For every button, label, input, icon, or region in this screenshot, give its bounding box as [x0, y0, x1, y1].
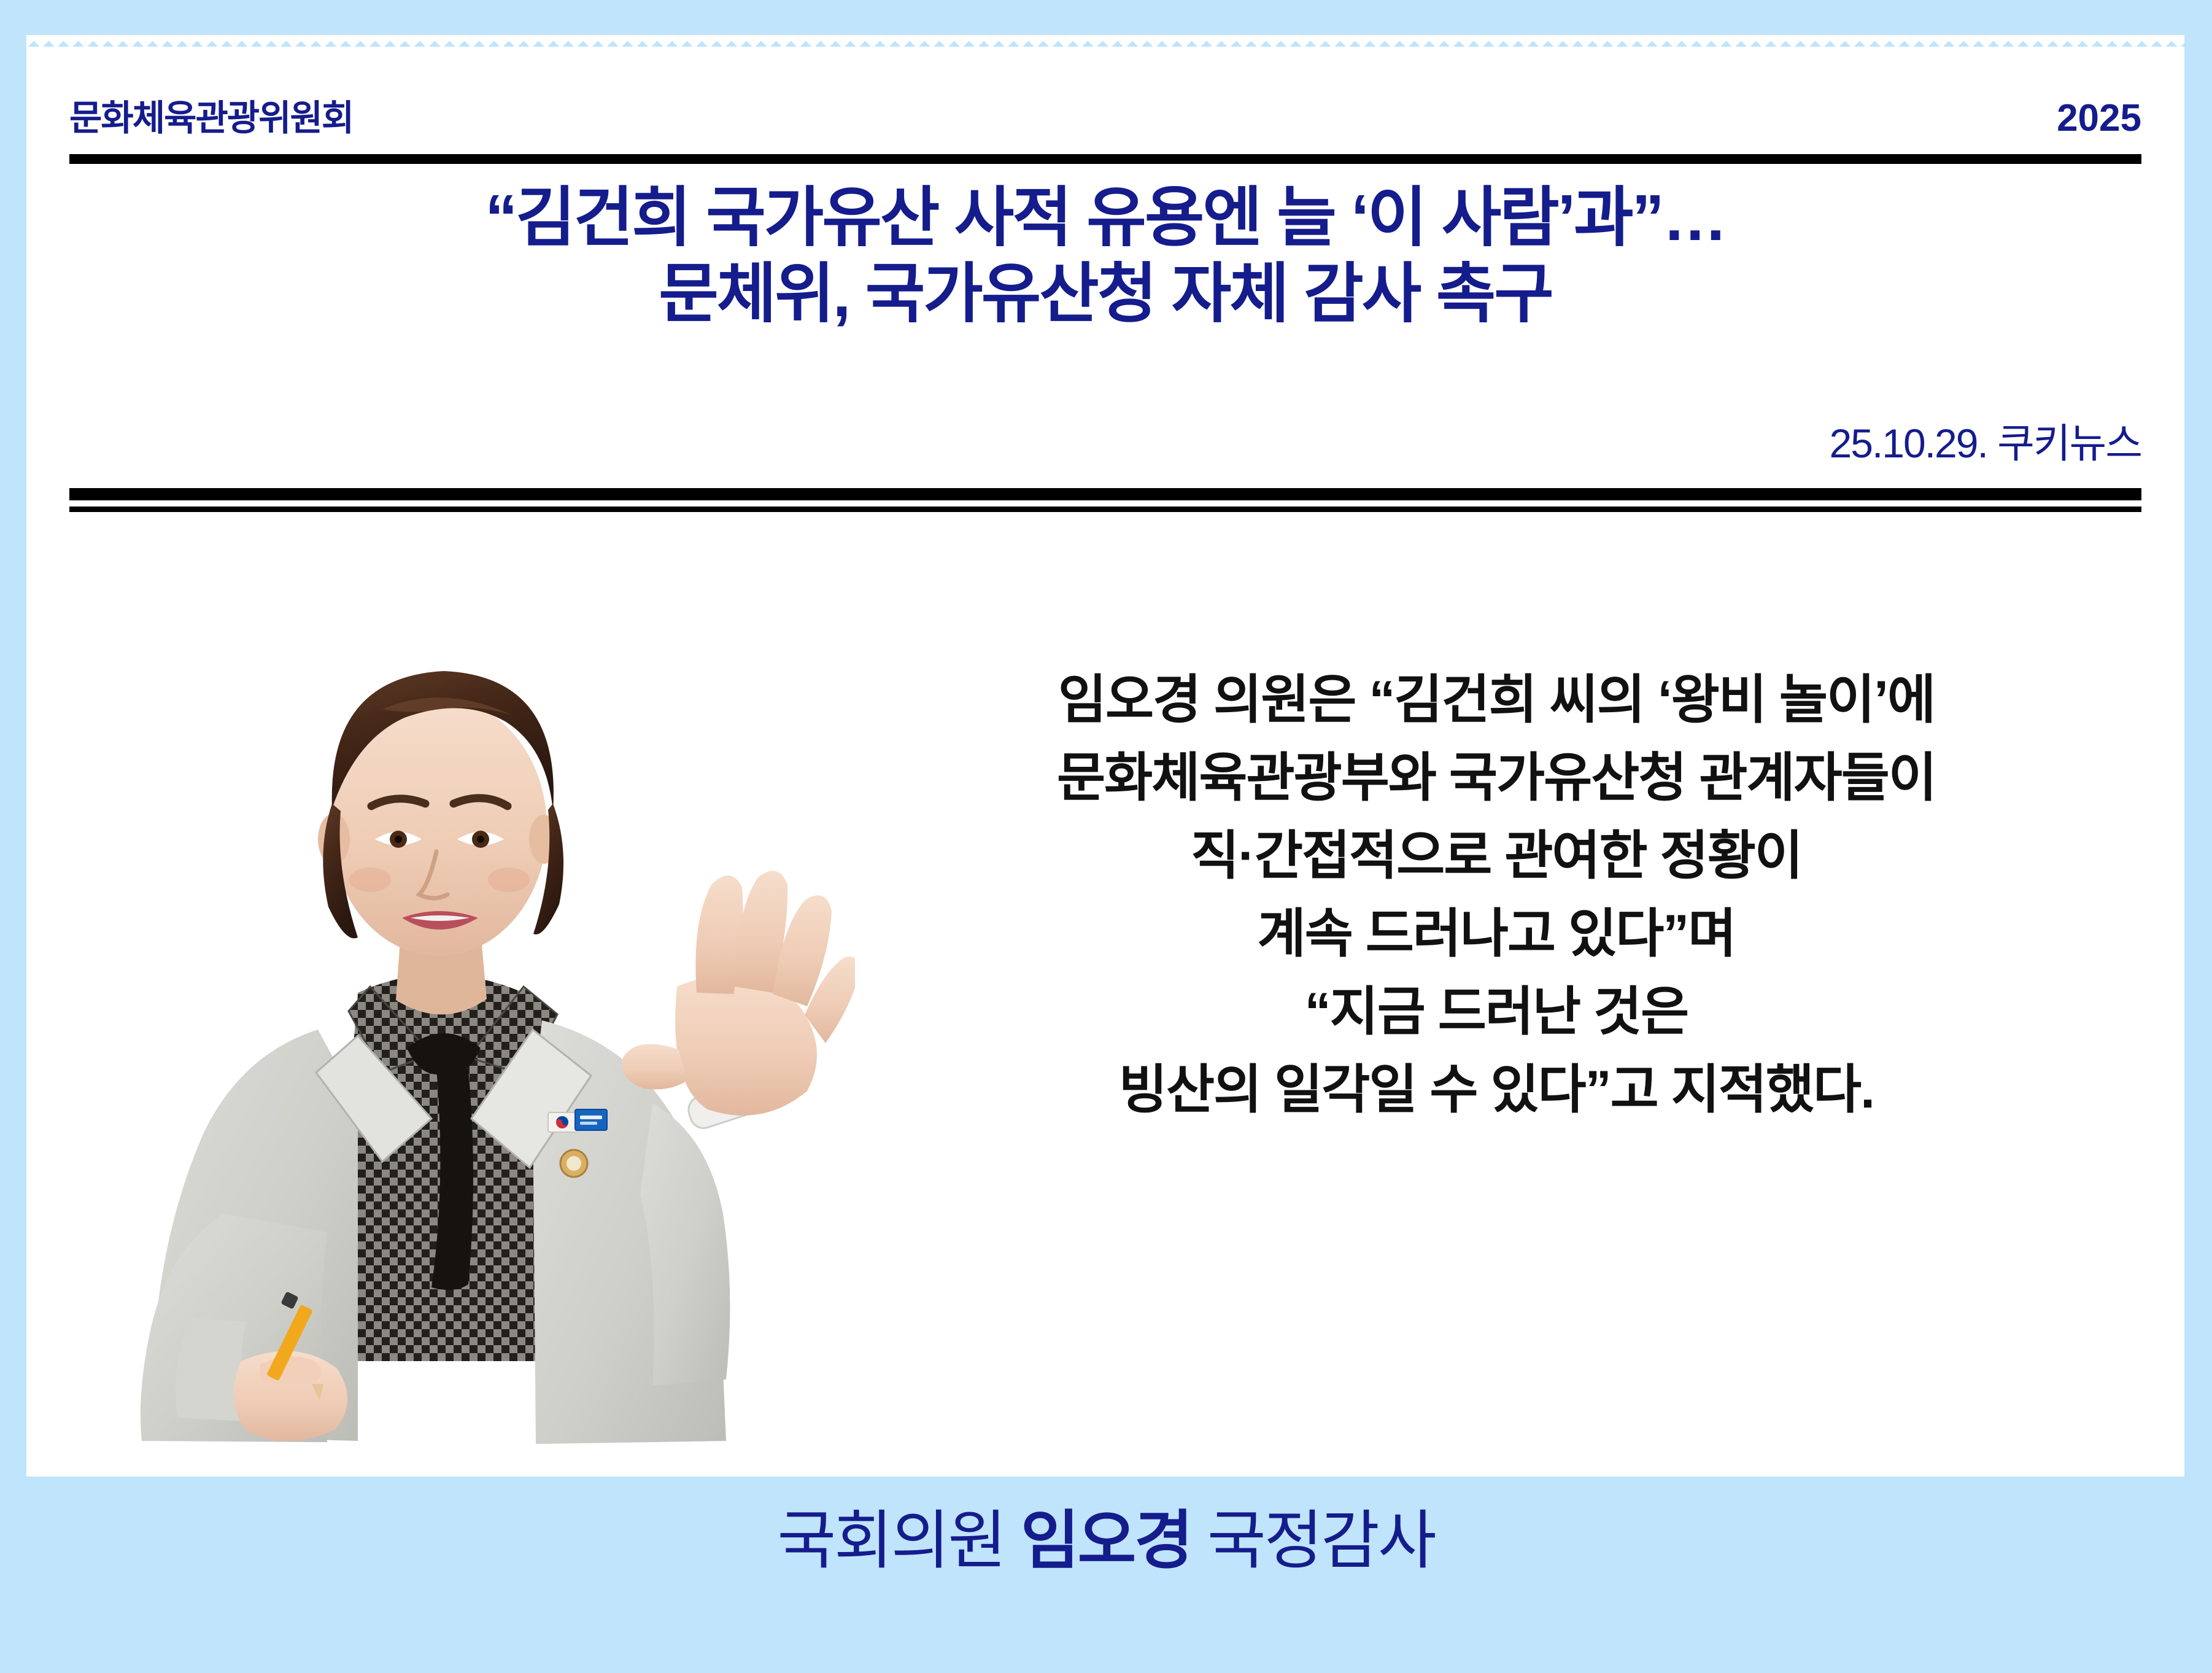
divider-middle-thick: [69, 488, 2141, 500]
news-card: 문화체육관광위원회 2025 “김건희 국가유산 사적 유용엔 늘 ‘이 사람’…: [26, 35, 2184, 1477]
footer-member-name: 임오경: [1021, 1505, 1191, 1577]
headline-line-1: “김건희 국가유산 사적 유용엔 늘 ‘이 사람’과”…: [69, 180, 2141, 256]
headline: “김건희 국가유산 사적 유용엔 늘 ‘이 사람’과”… 문체위, 국가유산청 …: [69, 180, 2141, 332]
quote-line-5: “지금 드러난 것은: [830, 973, 2162, 1051]
quote-line-1: 임오경 의원은 “김건희 씨의 ‘왕비 놀이’에: [830, 661, 2162, 739]
headline-line-2: 문체위, 국가유산청 자체 감사 촉구: [69, 256, 2141, 332]
divider-top: [69, 154, 2141, 164]
quote-line-2: 문화체육관광부와 국가유산청 관계자들이: [830, 739, 2162, 817]
sawtooth-edge-decoration: [26, 35, 2184, 47]
quote-line-3: 직·간접적으로 관여한 정황이: [830, 817, 2162, 895]
quote-line-4: 계속 드러나고 있다”며: [830, 895, 2162, 973]
blue-party-pin: [575, 1109, 607, 1130]
korean-flag-pin: [548, 1112, 576, 1132]
quote-line-6: 빙산의 일각일 수 있다”고 지적했다.: [830, 1051, 2162, 1129]
divider-middle-thin: [69, 507, 2141, 512]
quote-body: 임오경 의원은 “김건희 씨의 ‘왕비 놀이’에 문화체육관광부와 국가유산청 …: [830, 661, 2162, 1129]
portrait-photo: [39, 563, 855, 1478]
committee-name-label: 문화체육관광위원회: [69, 96, 353, 141]
card-header: 문화체육관광위원회 2025: [69, 96, 2141, 141]
footer-prefix: 국회의원: [777, 1505, 1021, 1577]
year-label: 2025: [2057, 96, 2141, 141]
source-and-date: 25.10.29. 쿠키뉴스: [1830, 411, 2141, 470]
footer-caption: 국회의원 임오경 국정감사: [0, 1498, 2212, 1584]
footer-suffix: 국정감사: [1191, 1505, 1435, 1577]
assembly-badge-pin: [560, 1150, 587, 1177]
